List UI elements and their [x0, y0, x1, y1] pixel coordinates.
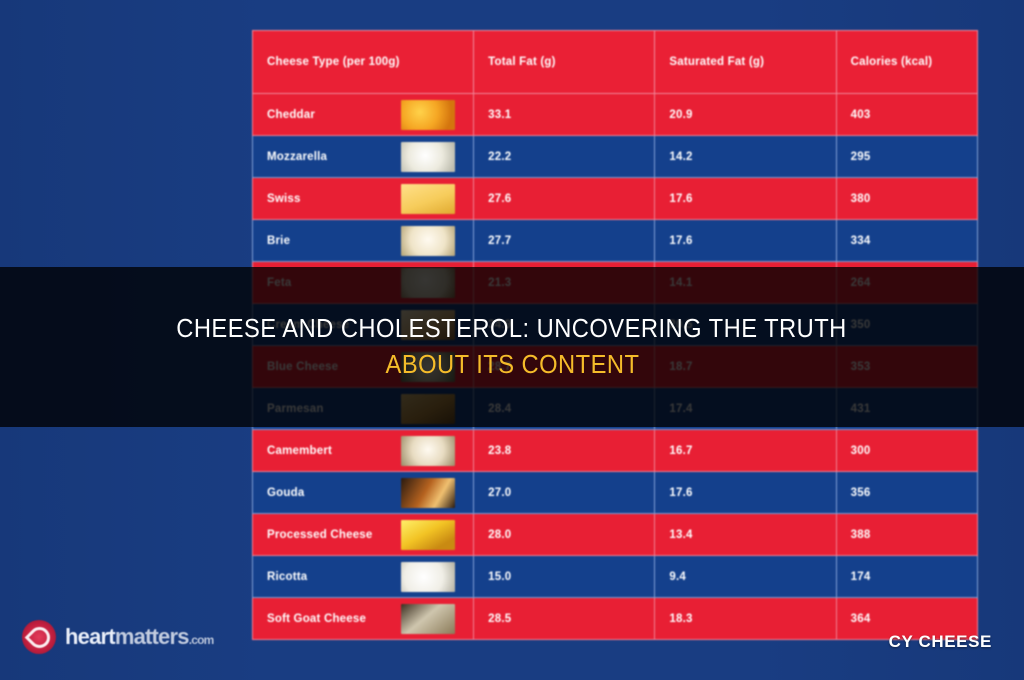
brie-thumbnail-icon: [401, 226, 455, 256]
total-fat-cell: 27.6: [474, 178, 655, 220]
calories-cell: 300: [836, 430, 977, 472]
overlay-title-line-1: CHEESE AND CHOLESTEROL: UNCOVERING THE T…: [177, 315, 848, 343]
cheese-name-cell: Mozzarella: [253, 136, 474, 178]
calories-cell: 388: [836, 514, 977, 556]
saturated-fat-cell: 18.3: [655, 598, 836, 640]
logo-text-part1: heart: [65, 624, 115, 649]
cheese-name-cell: Soft Goat Cheese: [253, 598, 474, 640]
table-row: Mozzarella 22.2 14.2 295: [253, 136, 978, 178]
cheese-name-label: Cheddar: [267, 109, 315, 121]
total-fat-cell: 22.2: [474, 136, 655, 178]
mozzarella-thumbnail-icon: [401, 142, 455, 172]
cheese-name-cell: Brie: [253, 220, 474, 262]
title-overlay-banner: CHEESE AND CHOLESTEROL: UNCOVERING THE T…: [0, 267, 1024, 427]
cheese-name-cell: Camembert: [253, 430, 474, 472]
calories-cell: 295: [836, 136, 977, 178]
saturated-fat-cell: 17.6: [655, 178, 836, 220]
camembert-thumbnail-icon: [401, 436, 455, 466]
heartmatters-logo[interactable]: heartmatters.com: [22, 620, 214, 654]
logo-text-part3: .com: [189, 633, 214, 647]
table-row: Swiss 27.6 17.6 380: [253, 178, 978, 220]
cheese-name-label: Swiss: [267, 193, 301, 205]
cheese-name-cell: Gouda: [253, 472, 474, 514]
total-fat-cell: 15.0: [474, 556, 655, 598]
cheese-name-label: Brie: [267, 235, 290, 247]
total-fat-cell: 28.0: [474, 514, 655, 556]
cheddar-thumbnail-icon: [401, 100, 455, 130]
cheese-name-cell: Processed Cheese: [253, 514, 474, 556]
total-fat-cell: 33.1: [474, 94, 655, 136]
table-row: Cheddar 33.1 20.9 403: [253, 94, 978, 136]
column-header-calories: Calories (kcal): [836, 31, 977, 94]
saturated-fat-cell: 16.7: [655, 430, 836, 472]
processed-cheese-thumbnail-icon: [401, 520, 455, 550]
cheese-name-label: Soft Goat Cheese: [267, 613, 366, 625]
table-header-row: Cheese Type (per 100g) Total Fat (g) Sat…: [253, 31, 978, 94]
saturated-fat-cell: 14.2: [655, 136, 836, 178]
total-fat-cell: 23.8: [474, 430, 655, 472]
cheese-name-label: Processed Cheese: [267, 529, 372, 541]
cheese-name-cell: Ricotta: [253, 556, 474, 598]
calories-cell: 334: [836, 220, 977, 262]
swiss-thumbnail-icon: [401, 184, 455, 214]
saturated-fat-cell: 9.4: [655, 556, 836, 598]
gouda-thumbnail-icon: [401, 478, 455, 508]
total-fat-cell: 27.7: [474, 220, 655, 262]
watermark-label: CY CHEESE: [889, 632, 992, 652]
column-header-saturated-fat: Saturated Fat (g): [655, 31, 836, 94]
column-header-cheese-type: Cheese Type (per 100g): [253, 31, 474, 94]
overlay-title-line-2: ABOUT ITS CONTENT: [385, 351, 639, 379]
calories-cell: 174: [836, 556, 977, 598]
cheese-name-label: Camembert: [267, 445, 332, 457]
saturated-fat-cell: 13.4: [655, 514, 836, 556]
calories-cell: 403: [836, 94, 977, 136]
cheese-name-cell: Cheddar: [253, 94, 474, 136]
cheese-name-label: Gouda: [267, 487, 304, 499]
table-row: Soft Goat Cheese 28.5 18.3 364: [253, 598, 978, 640]
table-row: Brie 27.7 17.6 334: [253, 220, 978, 262]
logo-text-part2: matters: [115, 624, 189, 649]
table-row: Ricotta 15.0 9.4 174: [253, 556, 978, 598]
table-row: Processed Cheese 28.0 13.4 388: [253, 514, 978, 556]
ricotta-thumbnail-icon: [401, 562, 455, 592]
calories-cell: 356: [836, 472, 977, 514]
table-row: Gouda 27.0 17.6 356: [253, 472, 978, 514]
saturated-fat-cell: 17.6: [655, 472, 836, 514]
heart-circle-icon: [22, 620, 56, 654]
calories-cell: 380: [836, 178, 977, 220]
logo-text: heartmatters.com: [65, 624, 214, 650]
cheese-name-label: Ricotta: [267, 571, 307, 583]
table-row: Camembert 23.8 16.7 300: [253, 430, 978, 472]
total-fat-cell: 27.0: [474, 472, 655, 514]
saturated-fat-cell: 20.9: [655, 94, 836, 136]
total-fat-cell: 28.5: [474, 598, 655, 640]
cheese-name-label: Mozzarella: [267, 151, 327, 163]
soft-goat-cheese-thumbnail-icon: [401, 604, 455, 634]
saturated-fat-cell: 17.6: [655, 220, 836, 262]
cheese-name-cell: Swiss: [253, 178, 474, 220]
column-header-total-fat: Total Fat (g): [474, 31, 655, 94]
